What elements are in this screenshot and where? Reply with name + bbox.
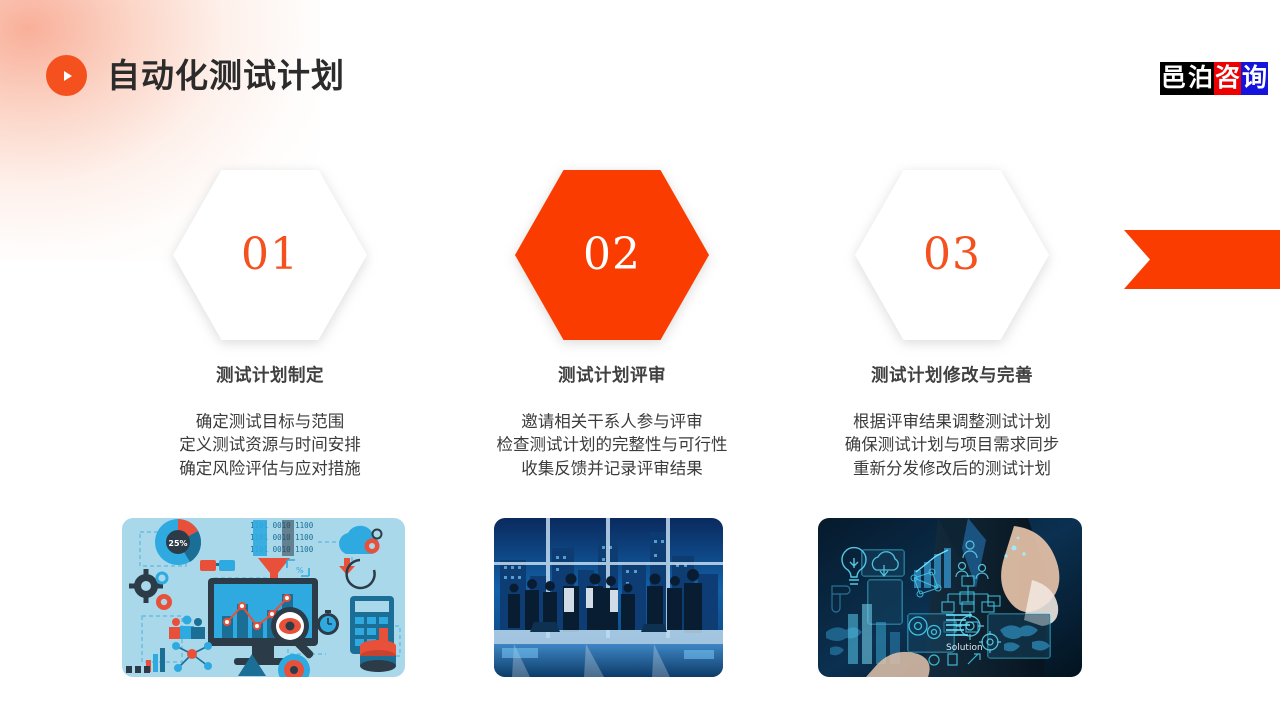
logo-char-3: 咨 — [1214, 62, 1241, 95]
step-line: 确定测试目标与范围 — [179, 411, 361, 434]
step-body-1: 确定测试目标与范围 定义测试资源与时间安排 确定风险评估与应对措施 — [179, 411, 361, 481]
business-meeting-photo — [494, 518, 723, 677]
step-line: 邀请相关干系人参与评审 — [497, 411, 728, 434]
step-body-2: 邀请相关干系人参与评审 检查测试计划的完整性与可行性 收集反馈并记录评审结果 — [497, 411, 728, 481]
step-body-3: 根据评审结果调整测试计划 确保测试计划与项目需求同步 重新分发修改后的测试计划 — [845, 411, 1060, 481]
hexagon-badge-1[interactable]: 01 — [173, 170, 367, 340]
data-analytics-illustration: 25% — [122, 518, 405, 677]
step-line: 根据评审结果调整测试计划 — [845, 411, 1060, 434]
step-line: 检查测试计划的完整性与可行性 — [497, 434, 728, 457]
digital-solution-photo: Solution — [818, 518, 1082, 677]
logo-char-1: 邑 — [1160, 62, 1187, 95]
logo-char-4: 询 — [1241, 62, 1268, 95]
slide-root: 自动化测试计划 邑 泊 咨 询 01 测试计划制定 确定测试目标与范围 定义测试… — [0, 0, 1280, 720]
svg-text:%: % — [296, 566, 304, 575]
step-line: 收集反馈并记录评审结果 — [497, 458, 728, 481]
step-column-3[interactable]: 03 测试计划修改与完善 根据评审结果调整测试计划 确保测试计划与项目需求同步 … — [782, 170, 1122, 481]
steps-container: 01 测试计划制定 确定测试目标与范围 定义测试资源与时间安排 确定风险评估与应… — [0, 170, 1280, 481]
step-number-2: 02 — [583, 233, 641, 277]
svg-text:25%: 25% — [168, 539, 187, 548]
step-line: 确定风险评估与应对措施 — [179, 458, 361, 481]
hexagon-badge-3[interactable]: 03 — [855, 170, 1049, 340]
play-circle-icon — [46, 55, 87, 96]
step-line: 重新分发修改后的测试计划 — [845, 458, 1060, 481]
step-line: 确保测试计划与项目需求同步 — [845, 434, 1060, 457]
step-number-1: 01 — [241, 233, 299, 277]
logo-char-2: 泊 — [1187, 62, 1214, 95]
brand-logo: 邑 泊 咨 询 — [1160, 62, 1268, 95]
step-column-2[interactable]: 02 测试计划评审 邀请相关干系人参与评审 检查测试计划的完整性与可行性 收集反… — [442, 170, 782, 481]
step-number-3: 03 — [923, 233, 981, 277]
step-title-3: 测试计划修改与完善 — [871, 362, 1033, 387]
step-line: 定义测试资源与时间安排 — [179, 434, 361, 457]
solution-label: Solution — [946, 643, 983, 653]
page-title: 自动化测试计划 — [107, 59, 345, 92]
hexagon-badge-2[interactable]: 02 — [515, 170, 709, 340]
step-title-1: 测试计划制定 — [216, 362, 324, 387]
step-column-1[interactable]: 01 测试计划制定 确定测试目标与范围 定义测试资源与时间安排 确定风险评估与应… — [100, 170, 440, 481]
slide-header: 自动化测试计划 — [46, 55, 345, 96]
step-title-2: 测试计划评审 — [558, 362, 666, 387]
